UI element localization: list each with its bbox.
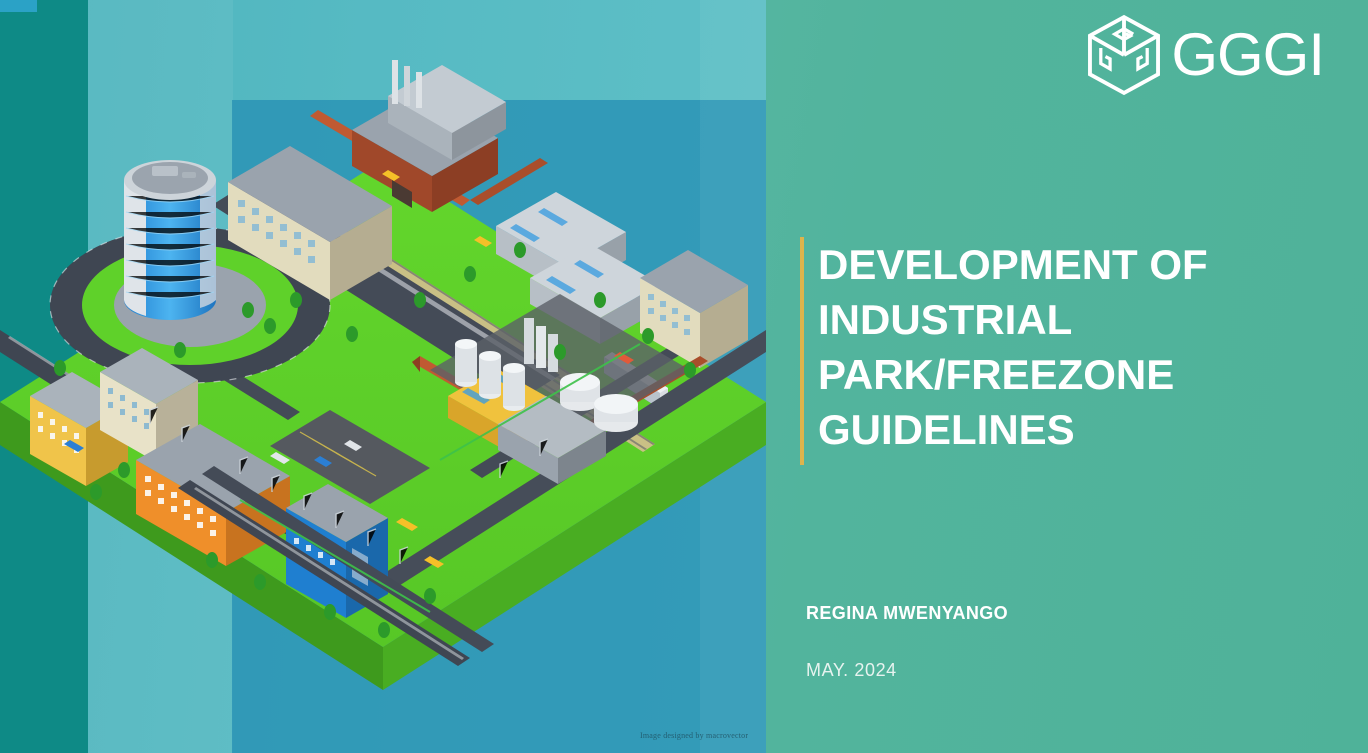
page-title: DEVELOPMENT OF INDUSTRIAL PARK/FREEZONE …	[818, 237, 1320, 465]
author-name: REGINA MWENYANGO	[806, 603, 1008, 624]
title-block: DEVELOPMENT OF INDUSTRIAL PARK/FREEZONE …	[800, 237, 1320, 465]
gggi-logo: GGGI	[1085, 14, 1324, 96]
title-slide: Image designed by macrovector GGGI DEVE	[0, 0, 1368, 753]
gggi-cube-icon	[1085, 14, 1163, 96]
glass-tower	[124, 160, 216, 320]
title-accent-bar	[800, 237, 804, 465]
gggi-wordmark: GGGI	[1171, 25, 1324, 85]
illustration-panel: Image designed by macrovector	[0, 0, 766, 753]
presentation-date: MAY. 2024	[806, 660, 897, 681]
isometric-city-illustration	[0, 0, 766, 753]
image-attribution: Image designed by macrovector	[640, 731, 748, 740]
